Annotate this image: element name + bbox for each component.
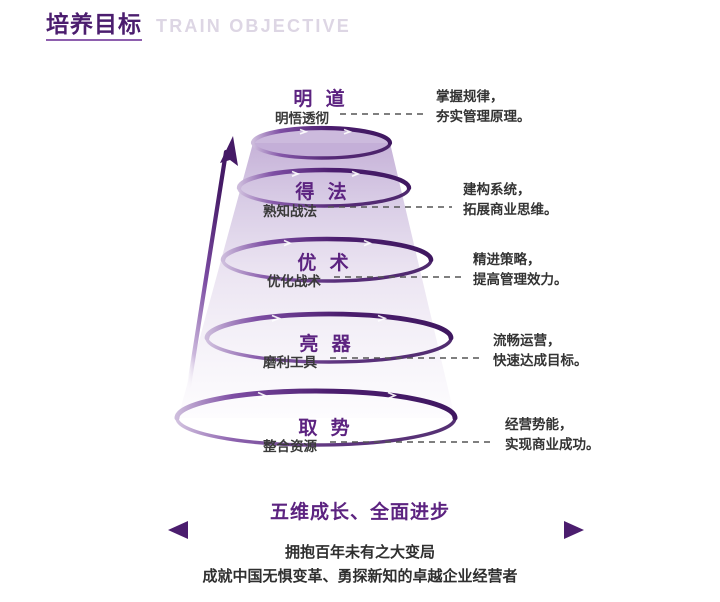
tier-desc-4-line2: 拓展商业思维。 (463, 200, 558, 220)
tier-desc-4: 建构系统， 拓展商业思维。 (463, 180, 558, 221)
footer-headline: 五维成长、全面进步 (0, 497, 720, 524)
footer-text: 拥抱百年未有之大变局 成就中国无惧变革、勇探新知的卓越企业经营者 (0, 541, 720, 590)
tier-desc-2: 流畅运营， 快速达成目标。 (493, 331, 588, 372)
tier-desc-1-line1: 经营势能， (505, 415, 600, 435)
tier-desc-3-line2: 提高管理效力。 (473, 270, 568, 290)
tier-desc-2-line1: 流畅运营， (493, 331, 588, 351)
tier-desc-5: 掌握规律， 夯实管理原理。 (436, 87, 531, 128)
tier-desc-1-line2: 实现商业成功。 (505, 435, 600, 455)
tier-desc-3-line1: 精进策略， (473, 250, 568, 270)
footer-line-1: 拥抱百年未有之大变局 (0, 541, 720, 565)
tier-subtitle-3: 优化战术 (267, 270, 321, 290)
tier-desc-2-line2: 快速达成目标。 (493, 351, 588, 371)
tier-subtitle-2: 磨利工具 (263, 351, 317, 371)
tier-subtitle-1: 整合资源 (263, 435, 317, 455)
tier-desc-5-line2: 夯实管理原理。 (436, 107, 531, 127)
tier-desc-3: 精进策略， 提高管理效力。 (473, 250, 568, 291)
tier-subtitle-5: 明悟透彻 (275, 107, 329, 127)
tier-desc-1: 经营势能， 实现商业成功。 (505, 415, 600, 456)
footer-line-2: 成就中国无惧变革、勇探新知的卓越企业经营者 (0, 565, 720, 589)
tier-subtitle-4: 熟知战法 (263, 200, 317, 220)
tier-desc-4-line1: 建构系统， (463, 180, 558, 200)
tier-desc-5-line1: 掌握规律， (436, 87, 531, 107)
